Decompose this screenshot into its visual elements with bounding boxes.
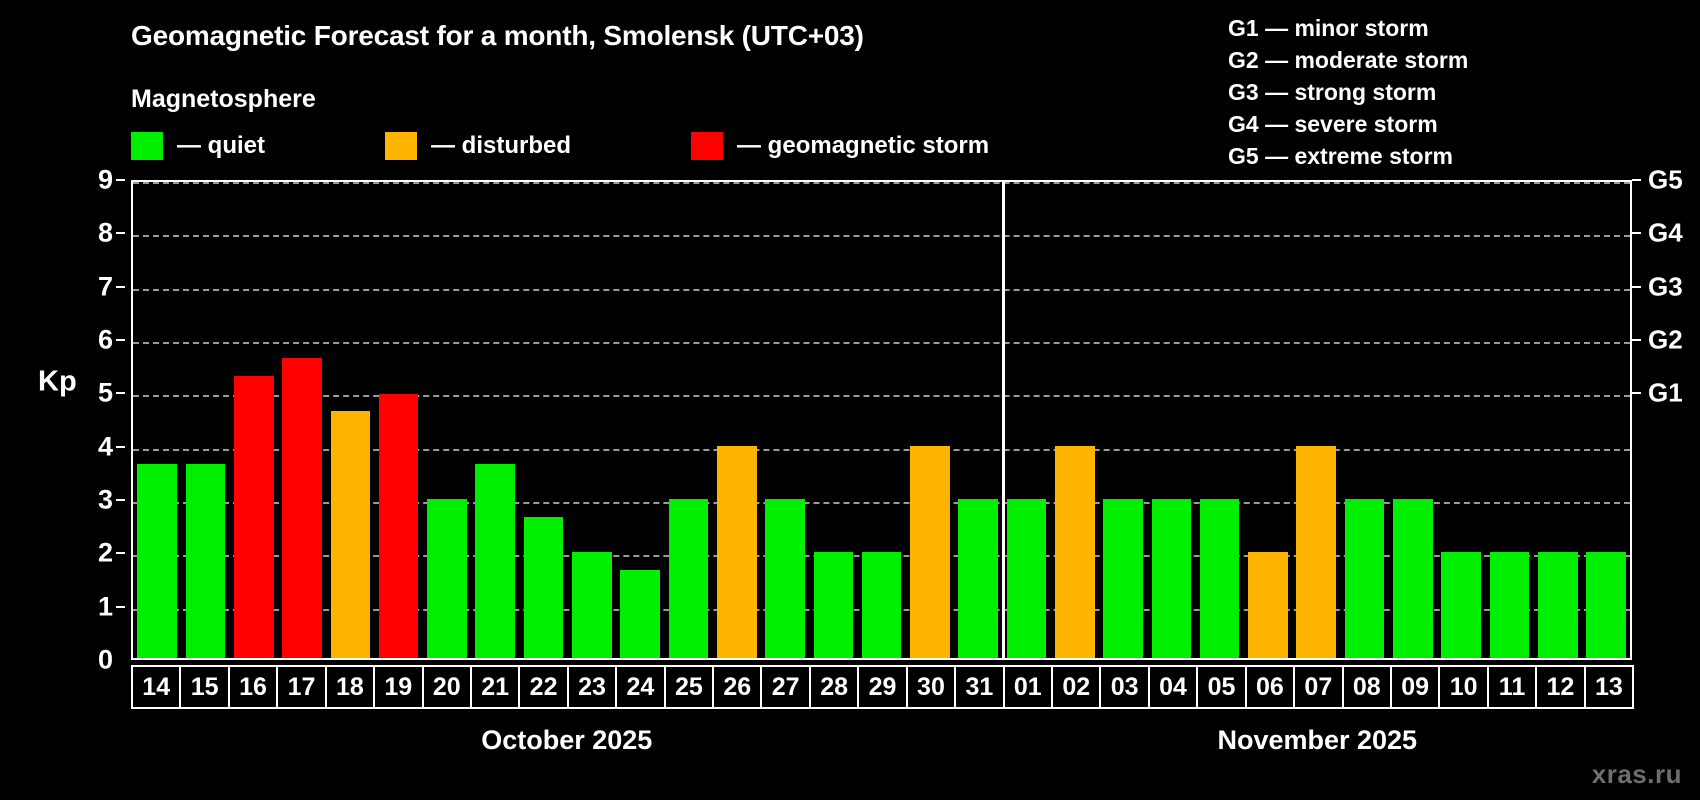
bar-slot[interactable] bbox=[519, 182, 567, 658]
date-cell[interactable]: 18 bbox=[325, 665, 375, 709]
date-cell[interactable]: 31 bbox=[954, 665, 1004, 709]
date-cell[interactable]: 21 bbox=[470, 665, 520, 709]
bar[interactable] bbox=[1345, 499, 1385, 658]
date-cell[interactable]: 13 bbox=[1584, 665, 1634, 709]
bar[interactable] bbox=[765, 499, 805, 658]
bar-slot[interactable] bbox=[1051, 182, 1099, 658]
legend-entry: — disturbed bbox=[385, 132, 571, 160]
bar-slot[interactable] bbox=[181, 182, 229, 658]
date-cell[interactable]: 30 bbox=[906, 665, 956, 709]
bar[interactable] bbox=[186, 464, 226, 658]
bar[interactable] bbox=[1538, 552, 1578, 658]
bar-slot[interactable] bbox=[761, 182, 809, 658]
date-cell[interactable]: 26 bbox=[712, 665, 762, 709]
bar-slot[interactable] bbox=[1582, 182, 1630, 658]
bar[interactable] bbox=[137, 464, 177, 658]
legend-label: — quiet bbox=[177, 132, 265, 160]
magnetosphere-legend: — quiet— disturbed— geomagnetic storm bbox=[131, 132, 989, 160]
y-tick-mark bbox=[116, 339, 125, 341]
bar-series bbox=[133, 182, 1630, 658]
bar[interactable] bbox=[1103, 499, 1143, 658]
date-cell[interactable]: 17 bbox=[276, 665, 326, 709]
y-tick-mark bbox=[116, 392, 125, 394]
legend-color-swatch bbox=[691, 132, 723, 160]
bar[interactable] bbox=[910, 446, 950, 658]
bar-slot[interactable] bbox=[568, 182, 616, 658]
bar[interactable] bbox=[862, 552, 902, 658]
watermark: xras.ru bbox=[1592, 759, 1682, 790]
bar-slot[interactable] bbox=[1147, 182, 1195, 658]
y-tick-mark bbox=[116, 606, 125, 608]
bar-slot[interactable] bbox=[1340, 182, 1388, 658]
y-tick-mark bbox=[116, 552, 125, 554]
date-cell[interactable]: 03 bbox=[1099, 665, 1149, 709]
g-tick-label: G3 bbox=[1648, 271, 1683, 302]
y-tick-mark bbox=[116, 446, 125, 448]
date-cell[interactable]: 27 bbox=[760, 665, 810, 709]
legend-label: — geomagnetic storm bbox=[737, 132, 989, 160]
legend-entry: — geomagnetic storm bbox=[691, 132, 989, 160]
date-cell[interactable]: 15 bbox=[179, 665, 229, 709]
bar-slot[interactable] bbox=[809, 182, 857, 658]
gscale-legend-row: G4 — severe storm bbox=[1228, 108, 1468, 140]
bar[interactable] bbox=[814, 552, 854, 658]
y-tick-label: 8 bbox=[98, 218, 113, 249]
bar-slot[interactable] bbox=[1389, 182, 1437, 658]
bar[interactable] bbox=[524, 517, 564, 658]
date-cell[interactable]: 24 bbox=[615, 665, 665, 709]
magnetosphere-heading: Magnetosphere bbox=[131, 85, 316, 114]
date-cell[interactable]: 09 bbox=[1390, 665, 1440, 709]
bar-slot[interactable] bbox=[133, 182, 181, 658]
bar[interactable] bbox=[1055, 446, 1095, 658]
date-cell[interactable]: 19 bbox=[373, 665, 423, 709]
bar-slot[interactable] bbox=[1196, 182, 1244, 658]
date-cell[interactable]: 06 bbox=[1245, 665, 1295, 709]
bar-slot[interactable] bbox=[230, 182, 278, 658]
bar[interactable] bbox=[234, 376, 274, 658]
plot-inner bbox=[133, 182, 1630, 658]
bar-slot[interactable] bbox=[1485, 182, 1533, 658]
y-tick-mark bbox=[116, 286, 125, 288]
month-label: November 2025 bbox=[1217, 725, 1417, 756]
bar-slot[interactable] bbox=[857, 182, 905, 658]
date-cell[interactable]: 11 bbox=[1487, 665, 1537, 709]
bar-slot[interactable] bbox=[326, 182, 374, 658]
date-cell[interactable]: 22 bbox=[518, 665, 568, 709]
bar-slot[interactable] bbox=[423, 182, 471, 658]
bar[interactable] bbox=[717, 446, 757, 658]
y-tick-mark bbox=[116, 499, 125, 501]
y-tick-label: 7 bbox=[98, 271, 113, 302]
bar-slot[interactable] bbox=[374, 182, 422, 658]
bar-slot[interactable] bbox=[1099, 182, 1147, 658]
g-tick-mark bbox=[1632, 286, 1641, 288]
bar[interactable] bbox=[1152, 499, 1192, 658]
bar[interactable] bbox=[1007, 499, 1047, 658]
g-tick-mark bbox=[1632, 392, 1641, 394]
date-cell[interactable]: 14 bbox=[131, 665, 181, 709]
date-cell[interactable]: 07 bbox=[1293, 665, 1343, 709]
date-cell[interactable]: 16 bbox=[228, 665, 278, 709]
g-tick-label: G1 bbox=[1648, 378, 1683, 409]
gscale-legend: G1 — minor stormG2 — moderate stormG3 — … bbox=[1228, 12, 1468, 172]
bar-slot[interactable] bbox=[1437, 182, 1485, 658]
g-tick-label: G4 bbox=[1648, 218, 1683, 249]
date-cell[interactable]: 05 bbox=[1196, 665, 1246, 709]
date-cell[interactable]: 01 bbox=[1003, 665, 1053, 709]
bar-slot[interactable] bbox=[713, 182, 761, 658]
g-tick-mark bbox=[1632, 232, 1641, 234]
bar[interactable] bbox=[1490, 552, 1530, 658]
bar-slot[interactable] bbox=[1292, 182, 1340, 658]
bar[interactable] bbox=[1586, 552, 1626, 658]
bar[interactable] bbox=[572, 552, 612, 658]
g-tick-mark bbox=[1632, 179, 1641, 181]
bar[interactable] bbox=[379, 394, 419, 658]
date-cell[interactable]: 20 bbox=[422, 665, 472, 709]
legend-color-swatch bbox=[385, 132, 417, 160]
bar[interactable] bbox=[427, 499, 467, 658]
g-tick-mark bbox=[1632, 339, 1641, 341]
bar[interactable] bbox=[282, 358, 322, 658]
bar[interactable] bbox=[1248, 552, 1288, 658]
bar[interactable] bbox=[1200, 499, 1240, 658]
date-cell[interactable]: 10 bbox=[1438, 665, 1488, 709]
date-cell[interactable]: 04 bbox=[1148, 665, 1198, 709]
legend-color-swatch bbox=[131, 132, 163, 160]
bar[interactable] bbox=[1296, 446, 1336, 658]
y-tick-label: 3 bbox=[98, 485, 113, 516]
y-tick-mark bbox=[116, 179, 125, 181]
bar[interactable] bbox=[1441, 552, 1481, 658]
y-tick-mark bbox=[116, 232, 125, 234]
g-tick-label: G2 bbox=[1648, 325, 1683, 356]
date-cell[interactable]: 29 bbox=[857, 665, 907, 709]
legend-label: — disturbed bbox=[431, 132, 571, 160]
date-cell[interactable]: 02 bbox=[1051, 665, 1101, 709]
date-cell[interactable]: 08 bbox=[1342, 665, 1392, 709]
bar[interactable] bbox=[620, 570, 660, 658]
bar[interactable] bbox=[1393, 499, 1433, 658]
page-title: Geomagnetic Forecast for a month, Smolen… bbox=[131, 20, 864, 52]
bar[interactable] bbox=[331, 411, 371, 658]
bar-slot[interactable] bbox=[616, 182, 664, 658]
y-axis: 0123456789 bbox=[70, 180, 125, 660]
date-cell[interactable]: 23 bbox=[567, 665, 617, 709]
y-tick-label: 6 bbox=[98, 325, 113, 356]
bar-slot[interactable] bbox=[1534, 182, 1582, 658]
y-axis-title: Kp bbox=[38, 366, 77, 399]
gscale-legend-row: G2 — moderate storm bbox=[1228, 44, 1468, 76]
month-divider bbox=[1002, 182, 1005, 658]
date-cell[interactable]: 28 bbox=[809, 665, 859, 709]
gscale-legend-row: G5 — extreme storm bbox=[1228, 140, 1468, 172]
bar-slot[interactable] bbox=[906, 182, 954, 658]
bar[interactable] bbox=[669, 499, 709, 658]
bar-slot[interactable] bbox=[1002, 182, 1050, 658]
y-tick-label: 5 bbox=[98, 378, 113, 409]
bar-slot[interactable] bbox=[471, 182, 519, 658]
y-tick-label: 9 bbox=[98, 165, 113, 196]
y-tick-label: 4 bbox=[98, 431, 113, 462]
y-tick-label: 2 bbox=[98, 538, 113, 569]
g-scale-axis: G1G2G3G4G5 bbox=[1632, 180, 1700, 660]
bar-slot[interactable] bbox=[1244, 182, 1292, 658]
bar-slot[interactable] bbox=[954, 182, 1002, 658]
bar[interactable] bbox=[475, 464, 515, 658]
bar[interactable] bbox=[958, 499, 998, 658]
bar-slot[interactable] bbox=[664, 182, 712, 658]
plot-area bbox=[131, 180, 1632, 660]
geomagnetic-forecast-chart: Geomagnetic Forecast for a month, Smolen… bbox=[0, 0, 1700, 800]
gscale-legend-row: G1 — minor storm bbox=[1228, 12, 1468, 44]
y-tick-label: 0 bbox=[98, 645, 113, 676]
y-tick-label: 1 bbox=[98, 591, 113, 622]
g-tick-label: G5 bbox=[1648, 165, 1683, 196]
date-cell[interactable]: 12 bbox=[1535, 665, 1585, 709]
month-label: October 2025 bbox=[481, 725, 652, 756]
gscale-legend-row: G3 — strong storm bbox=[1228, 76, 1468, 108]
date-cell[interactable]: 25 bbox=[664, 665, 714, 709]
legend-entry: — quiet bbox=[131, 132, 265, 160]
date-axis: 1415161718192021222324252627282930310102… bbox=[131, 665, 1632, 709]
bar-slot[interactable] bbox=[278, 182, 326, 658]
